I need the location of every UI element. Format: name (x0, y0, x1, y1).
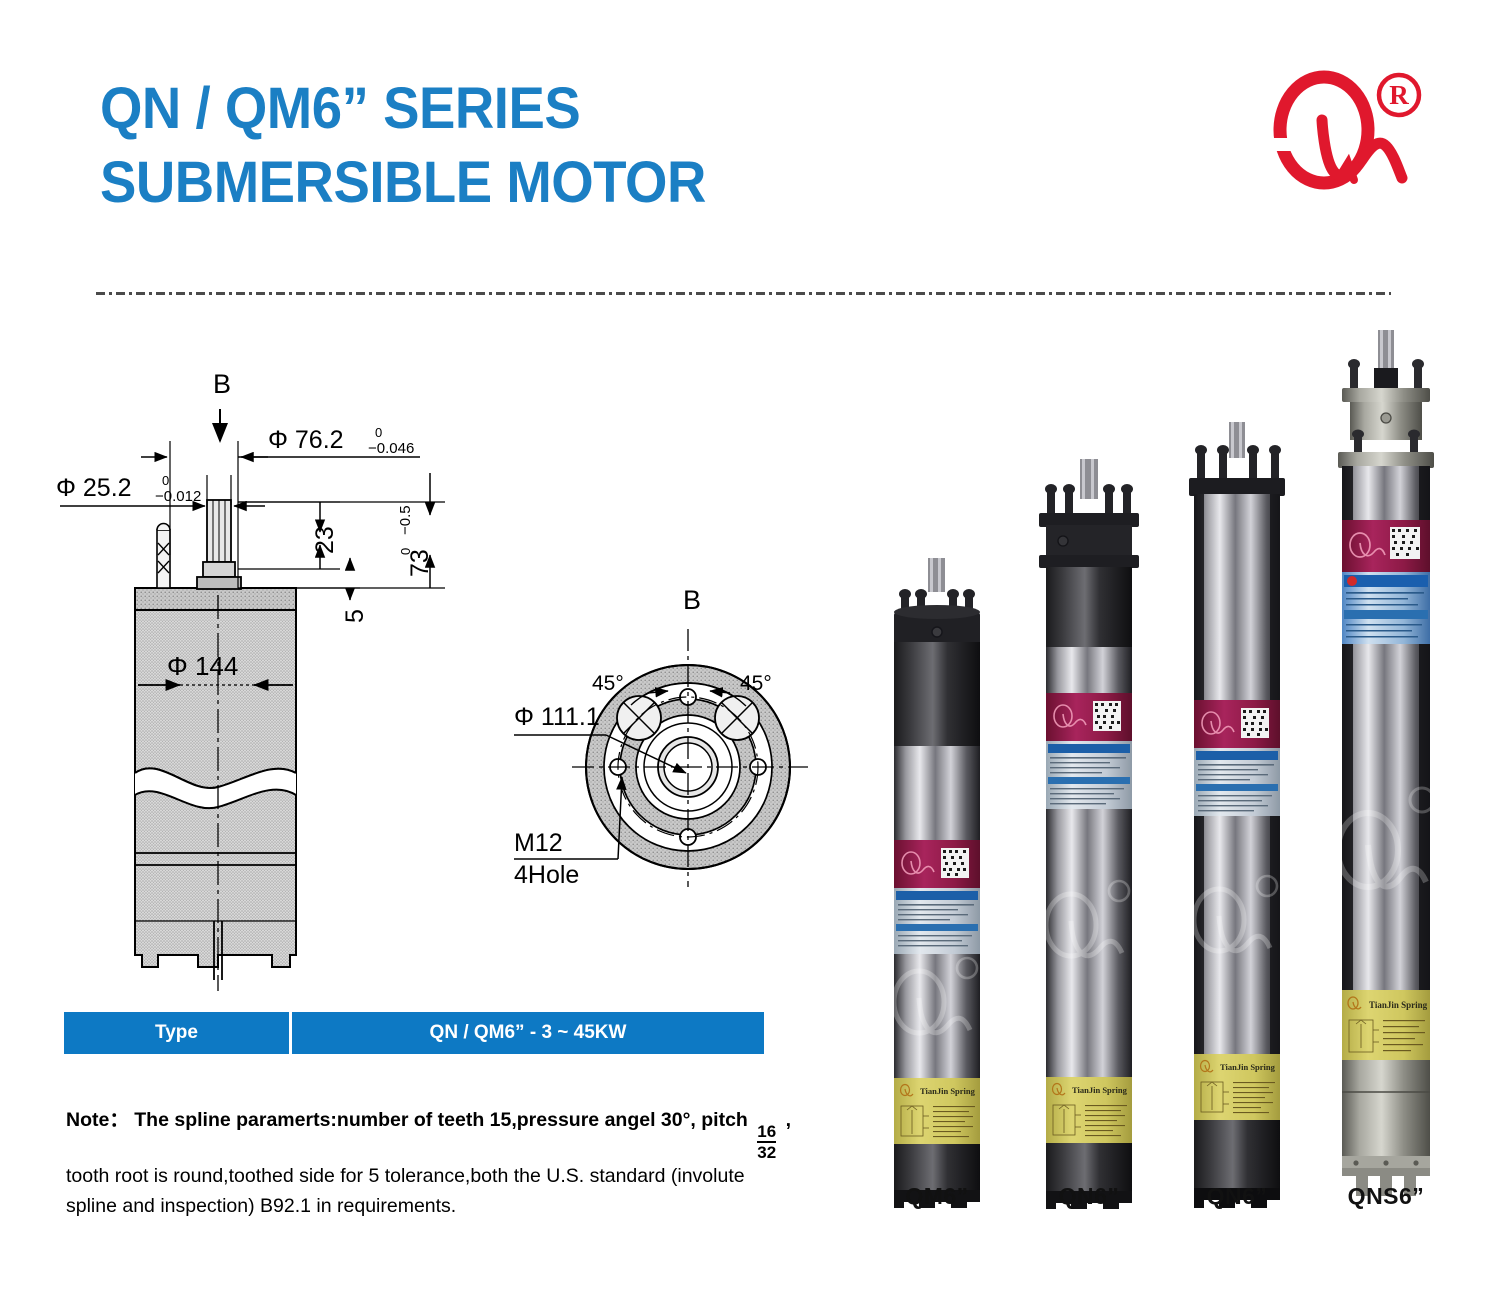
product-qn6-a: TianJin Spring QN6” (1014, 360, 1164, 1210)
svg-text:R: R (1389, 80, 1409, 110)
pitch-numerator: 16 (757, 1123, 776, 1141)
datasheet-page: QN / QM6” SERIES SUBMERSIBLE MOTOR R (0, 0, 1485, 1300)
product-qm6: TianJin Spring (862, 360, 1012, 1210)
motor-image-qns6: TianJin Spring (1316, 330, 1456, 1210)
note-block: Note： The spline paramerts:number of tee… (66, 1105, 856, 1221)
brand-sticker-text: TianJin Spring (1369, 1000, 1428, 1010)
section-label-b-bottom: B (683, 585, 701, 615)
note-label: Note： (66, 1109, 129, 1131)
note-line-1: Note： The spline paramerts:number of tee… (66, 1105, 856, 1161)
product-label-qn6-b: QN6” (1207, 1183, 1268, 1210)
angle-right-45: 45° (740, 672, 772, 695)
svg-text:−0.012: −0.012 (155, 488, 201, 505)
note-line-2: tooth root is round,toothed side for 5 t… (66, 1161, 856, 1191)
type-table: Type QN / QM6” - 3 ~ 45KW (64, 1012, 764, 1054)
product-label-qm6: QM6” (905, 1183, 968, 1210)
dim-phi-144: Φ 144 (167, 651, 238, 681)
motor-image-qn6-a: TianJin Spring (1023, 455, 1155, 1210)
motor-image-qm6: TianJin Spring (871, 550, 1003, 1210)
brand-sticker-text: TianJin Spring (1072, 1085, 1128, 1095)
brand-sticker-text: TianJin Spring (1220, 1062, 1276, 1072)
angle-left-45: 45° (592, 672, 624, 695)
svg-text:−0.046: −0.046 (368, 440, 414, 457)
svg-text:−0.5: −0.5 (397, 505, 414, 535)
svg-text:0: 0 (398, 548, 413, 555)
note-text-a: The spline paramerts:number of teeth 15,… (134, 1109, 696, 1131)
product-qns6: TianJin Spring (1310, 330, 1462, 1210)
brand-sticker-text: TianJin Spring (920, 1086, 976, 1096)
note-line-3: spline and inspection) B92.1 in requirem… (66, 1191, 856, 1221)
registered-trademark-icon: R (1379, 75, 1419, 115)
dim-phi-25: Φ 25.2 (56, 474, 132, 502)
technical-drawing: B (40, 355, 850, 995)
motor-image-qn6-b: TianJin Spring (1171, 420, 1303, 1210)
pitch-fraction: 1632 (757, 1123, 776, 1161)
dim-5: 5 (341, 609, 369, 623)
page-title: QN / QM6” SERIES SUBMERSIBLE MOTOR (100, 72, 1150, 220)
dim-phi-111: Φ 111.1 (514, 703, 600, 731)
dim-phi-76: Φ 76.2 (268, 426, 344, 454)
svg-text:0: 0 (375, 425, 382, 440)
note-comma: , (786, 1109, 791, 1131)
dim-4hole: 4Hole (514, 861, 579, 889)
qn-brand-logo: R (1262, 68, 1437, 208)
section-label-b-top: B (213, 369, 231, 399)
title-line-1: QN / QM6” SERIES (100, 72, 1087, 146)
header-divider (96, 292, 1391, 295)
product-label-qn6-a: QN6” (1059, 1183, 1120, 1210)
pitch-denominator: 32 (757, 1143, 776, 1161)
dim-m12: M12 (514, 829, 563, 857)
product-qn6-b: TianJin Spring QN6” (1162, 360, 1312, 1210)
product-gallery: TianJin Spring (862, 360, 1462, 1265)
dim-23: 23 (311, 526, 339, 554)
svg-text:0: 0 (162, 473, 169, 488)
title-line-2: SUBMERSIBLE MOTOR (100, 146, 1087, 220)
type-table-value: QN / QM6” - 3 ~ 45KW (292, 1012, 764, 1054)
logo-q-glyph (1270, 77, 1402, 183)
type-table-header: Type (64, 1012, 292, 1054)
note-pitch-label: pitch (701, 1109, 748, 1131)
product-label-qns6: QNS6” (1348, 1183, 1425, 1210)
